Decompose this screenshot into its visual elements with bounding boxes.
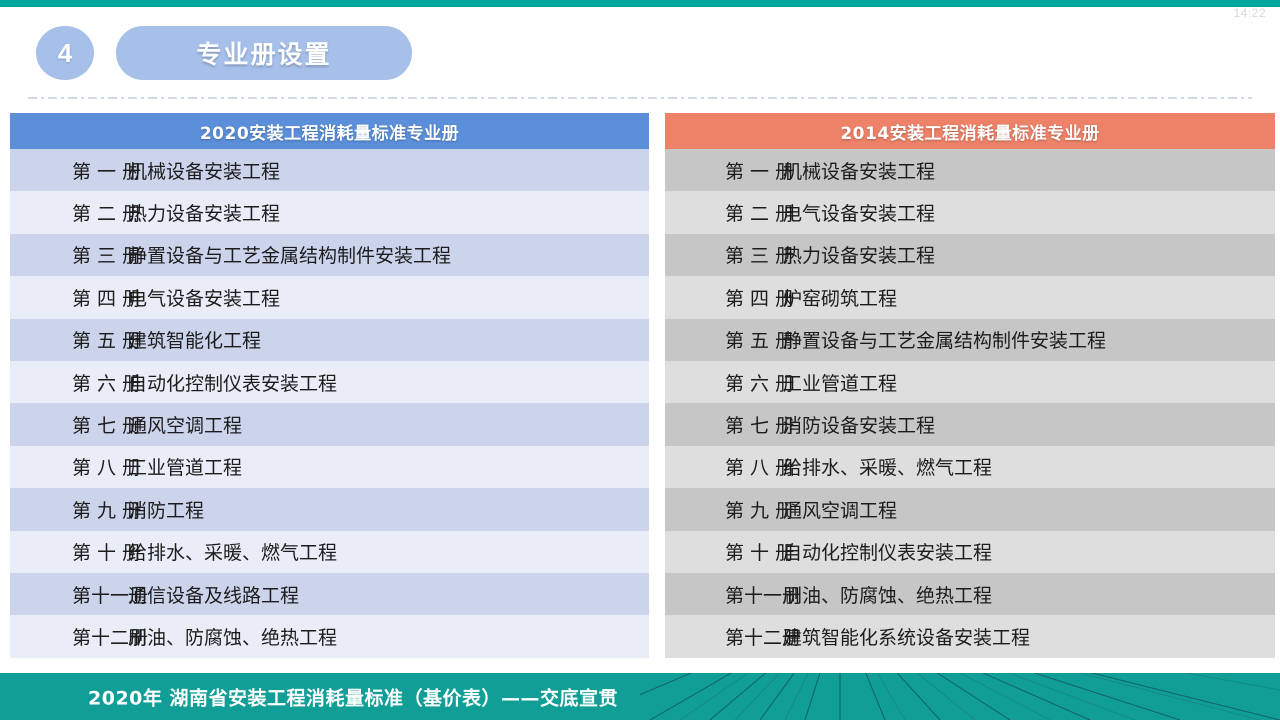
volume-name: 炉窑砌筑工程 xyxy=(783,284,1275,311)
fan-decoration-icon xyxy=(640,673,1280,720)
volume-label: 第十一册 xyxy=(665,581,783,608)
volume-name: 通信设备及线路工程 xyxy=(128,581,649,608)
volume-name: 自动化控制仪表安装工程 xyxy=(783,538,1275,565)
volume-name: 消防工程 xyxy=(128,496,649,523)
volume-name: 刷油、防腐蚀、绝热工程 xyxy=(128,623,649,650)
table-row: 第 三 册静置设备与工艺金属结构制件安装工程 xyxy=(10,234,649,276)
table-row: 第 十 册给排水、采暖、燃气工程 xyxy=(10,531,649,573)
volume-label: 第 五 册 xyxy=(10,326,128,353)
table-row: 第 九 册消防工程 xyxy=(10,488,649,530)
top-accent-bar xyxy=(0,0,1280,7)
table-row: 第 七 册通风空调工程 xyxy=(10,403,649,445)
table-row: 第 一 册机械设备安装工程 xyxy=(665,149,1275,191)
divider xyxy=(28,97,1252,99)
volume-name: 静置设备与工艺金属结构制件安装工程 xyxy=(783,326,1275,353)
table-row: 第 六 册自动化控制仪表安装工程 xyxy=(10,361,649,403)
volume-name: 刷油、防腐蚀、绝热工程 xyxy=(783,581,1275,608)
volume-name: 给排水、采暖、燃气工程 xyxy=(783,453,1275,480)
volume-label: 第 三 册 xyxy=(665,241,783,268)
volume-label: 第十二册 xyxy=(665,623,783,650)
table-row: 第 一 册机械设备安装工程 xyxy=(10,149,649,191)
volume-name: 静置设备与工艺金属结构制件安装工程 xyxy=(128,241,649,268)
volume-label: 第 九 册 xyxy=(10,496,128,523)
volume-name: 通风空调工程 xyxy=(783,496,1275,523)
table-2020: 2020安装工程消耗量标准专业册第 一 册机械设备安装工程第 二 册热力设备安装… xyxy=(10,113,649,658)
table-row: 第 八 册给排水、采暖、燃气工程 xyxy=(665,446,1275,488)
volume-label: 第十二册 xyxy=(10,623,128,650)
volume-label: 第 二 册 xyxy=(10,199,128,226)
volume-name: 给排水、采暖、燃气工程 xyxy=(128,538,649,565)
volume-name: 电气设备安装工程 xyxy=(128,284,649,311)
volume-name: 电气设备安装工程 xyxy=(783,199,1275,226)
volume-label: 第 六 册 xyxy=(10,369,128,396)
volume-label: 第 九 册 xyxy=(665,496,783,523)
volume-label: 第 七 册 xyxy=(10,411,128,438)
volume-name: 建筑智能化工程 xyxy=(128,326,649,353)
volume-name: 通风空调工程 xyxy=(128,411,649,438)
section-number-badge: 4 xyxy=(36,26,94,80)
volume-label: 第 二 册 xyxy=(665,199,783,226)
volume-name: 机械设备安装工程 xyxy=(128,157,649,184)
volume-label: 第 五 册 xyxy=(665,326,783,353)
volume-name: 热力设备安装工程 xyxy=(128,199,649,226)
table-header-left: 2020安装工程消耗量标准专业册 xyxy=(10,113,649,149)
volume-label: 第十一册 xyxy=(10,581,128,608)
volume-name: 自动化控制仪表安装工程 xyxy=(128,369,649,396)
volume-name: 建筑智能化系统设备安装工程 xyxy=(783,623,1275,650)
table-row: 第 十 册自动化控制仪表安装工程 xyxy=(665,531,1275,573)
footer-title: 2020年 湖南省安装工程消耗量标准（基价表）——交底宣贯 xyxy=(88,683,618,710)
table-row: 第 三 册热力设备安装工程 xyxy=(665,234,1275,276)
volume-name: 机械设备安装工程 xyxy=(783,157,1275,184)
table-row: 第 七 册消防设备安装工程 xyxy=(665,403,1275,445)
volume-name: 热力设备安装工程 xyxy=(783,241,1275,268)
table-row: 第 二 册电气设备安装工程 xyxy=(665,191,1275,233)
table-row: 第 四 册电气设备安装工程 xyxy=(10,276,649,318)
volume-label: 第 一 册 xyxy=(10,157,128,184)
volume-label: 第 八 册 xyxy=(665,453,783,480)
slide-heading: 4 专业册设置 xyxy=(36,26,412,80)
volume-label: 第 十 册 xyxy=(665,538,783,565)
table-row: 第 二 册热力设备安装工程 xyxy=(10,191,649,233)
table-row: 第十一册通信设备及线路工程 xyxy=(10,573,649,615)
page-title: 专业册设置 xyxy=(116,26,412,80)
table-header-right: 2014安装工程消耗量标准专业册 xyxy=(665,113,1275,149)
table-2014: 2014安装工程消耗量标准专业册第 一 册机械设备安装工程第 二 册电气设备安装… xyxy=(665,113,1275,658)
volume-name: 工业管道工程 xyxy=(783,369,1275,396)
volume-label: 第 七 册 xyxy=(665,411,783,438)
table-row: 第 五 册建筑智能化工程 xyxy=(10,319,649,361)
timestamp: 14:22 xyxy=(1233,6,1266,20)
volume-label: 第 三 册 xyxy=(10,241,128,268)
table-row: 第 四 册炉窑砌筑工程 xyxy=(665,276,1275,318)
table-row: 第 六 册工业管道工程 xyxy=(665,361,1275,403)
table-row: 第 五 册静置设备与工艺金属结构制件安装工程 xyxy=(665,319,1275,361)
table-row: 第十一册刷油、防腐蚀、绝热工程 xyxy=(665,573,1275,615)
footer-bar: 2020年 湖南省安装工程消耗量标准（基价表）——交底宣贯 xyxy=(0,673,1280,720)
table-row: 第 八 册工业管道工程 xyxy=(10,446,649,488)
table-row: 第十二册刷油、防腐蚀、绝热工程 xyxy=(10,615,649,657)
volume-label: 第 四 册 xyxy=(10,284,128,311)
table-row: 第十二册建筑智能化系统设备安装工程 xyxy=(665,615,1275,657)
volume-name: 工业管道工程 xyxy=(128,453,649,480)
volume-name: 消防设备安装工程 xyxy=(783,411,1275,438)
volume-label: 第 六 册 xyxy=(665,369,783,396)
table-row: 第 九 册通风空调工程 xyxy=(665,488,1275,530)
volume-label: 第 十 册 xyxy=(10,538,128,565)
volume-label: 第 四 册 xyxy=(665,284,783,311)
volume-label: 第 八 册 xyxy=(10,453,128,480)
volume-label: 第 一 册 xyxy=(665,157,783,184)
